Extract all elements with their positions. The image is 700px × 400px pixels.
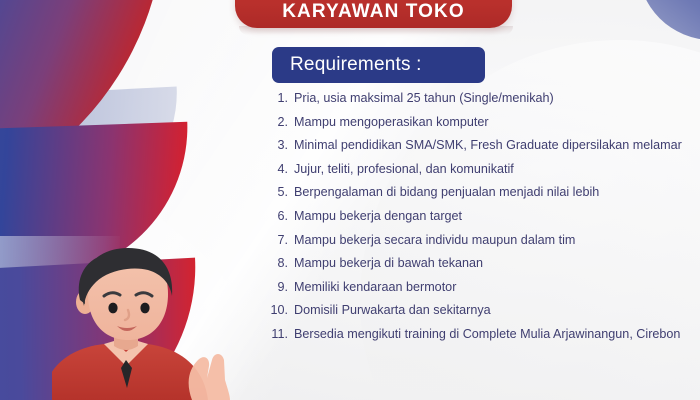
list-item: 7. Mampu bekerja secara individu maupun … [262, 233, 686, 247]
requirements-list: 1. Pria, usia maksimal 25 tahun (Single/… [262, 91, 686, 351]
list-item: 3. Minimal pendidikan SMA/SMK, Fresh Gra… [262, 138, 686, 152]
job-vacancy-poster: KARYAWAN TOKO Requirements : 1. Pria, us… [0, 0, 700, 400]
requirements-badge: Requirements : [272, 47, 485, 83]
list-item-text: Mampu bekerja di bawah tekanan [294, 256, 686, 270]
list-item: 2. Mampu mengoperasikan komputer [262, 115, 686, 129]
list-item-text: Bersedia mengikuti training di Complete … [294, 327, 686, 341]
list-item: 4. Jujur, teliti, profesional, dan komun… [262, 162, 686, 176]
list-item: 10. Domisili Purwakarta dan sekitarnya [262, 303, 686, 317]
decorative-fan-top-left [0, 0, 199, 213]
requirements-badge-label: Requirements : [272, 54, 422, 76]
list-item-number: 4. [262, 162, 294, 176]
list-item-number: 6. [262, 209, 294, 223]
decorative-fan-top-corner [0, 0, 113, 122]
list-item-number: 3. [262, 138, 294, 152]
list-item-number: 7. [262, 233, 294, 247]
eye-left [108, 303, 117, 314]
list-item: 5. Berpengalaman di bidang penjualan men… [262, 185, 686, 199]
list-item-text: Pria, usia maksimal 25 tahun (Single/men… [294, 91, 686, 105]
eye-right [140, 303, 149, 314]
list-item-number: 2. [262, 115, 294, 129]
list-item-text: Berpengalaman di bidang penjualan menjad… [294, 185, 686, 199]
cartoon-man-icon [52, 248, 267, 400]
character-illustration [52, 248, 267, 400]
hand-shape [189, 354, 230, 400]
title-banner-text: KARYAWAN TOKO [282, 2, 465, 28]
list-item-text: Mampu bekerja secara individu maupun dal… [294, 233, 686, 247]
list-item-text: Minimal pendidikan SMA/SMK, Fresh Gradua… [294, 138, 686, 152]
list-item-text: Mampu bekerja dengan target [294, 209, 686, 223]
decorative-corner-blob-top-right [638, 0, 700, 40]
list-item-text: Mampu mengoperasikan komputer [294, 115, 686, 129]
decorative-fan-pale-upper [0, 86, 183, 223]
list-item: 6. Mampu bekerja dengan target [262, 209, 686, 223]
list-item: 9. Memiliki kendaraan bermotor [262, 280, 686, 294]
list-item: 1. Pria, usia maksimal 25 tahun (Single/… [262, 91, 686, 105]
list-item: 11. Bersedia mengikuti training di Compl… [262, 327, 686, 341]
list-item-text: Memiliki kendaraan bermotor [294, 280, 686, 294]
list-item-number: 5. [262, 185, 294, 199]
list-item-number: 1. [262, 91, 294, 105]
list-item: 8. Mampu bekerja di bawah tekanan [262, 256, 686, 270]
title-banner: KARYAWAN TOKO [235, 0, 512, 28]
list-item-text: Jujur, teliti, profesional, dan komunika… [294, 162, 686, 176]
list-item-text: Domisili Purwakarta dan sekitarnya [294, 303, 686, 317]
